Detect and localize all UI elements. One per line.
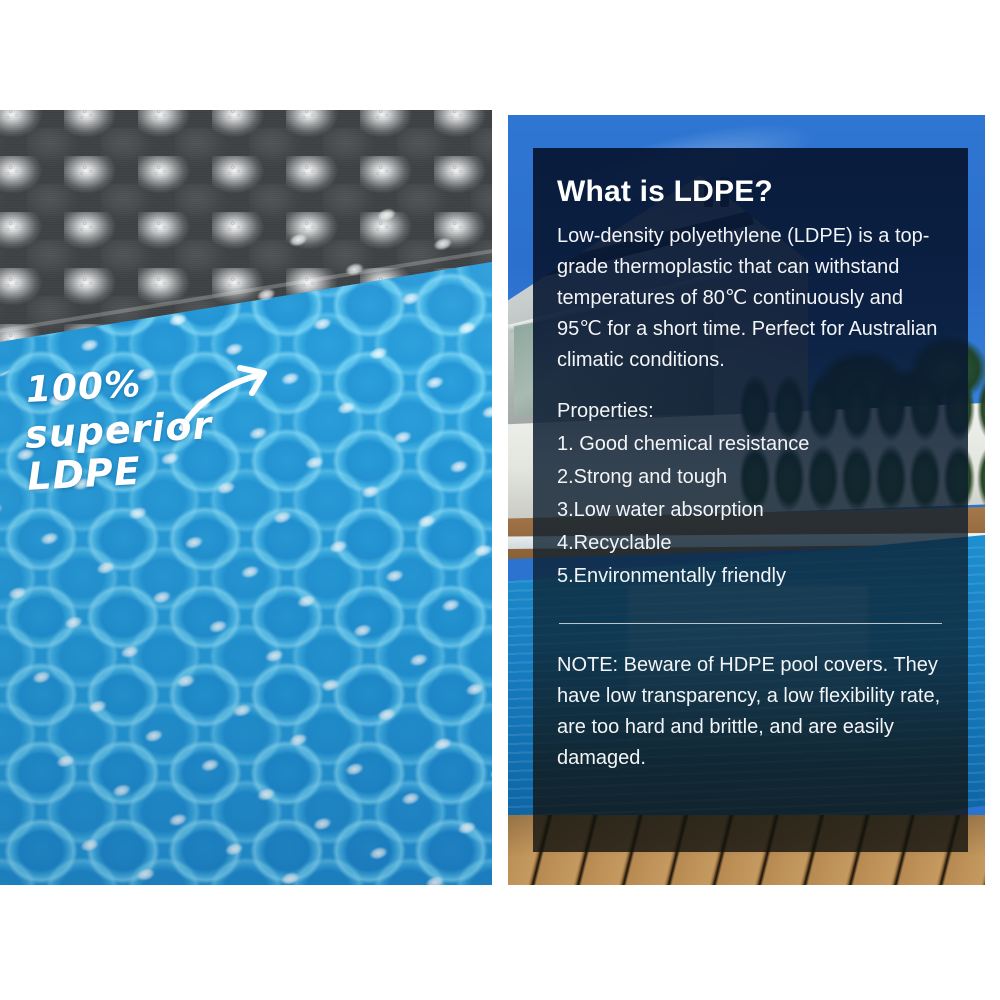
- properties-list: 1. Good chemical resistance 2.Strong and…: [557, 428, 944, 593]
- list-item: 2.Strong and tough: [557, 461, 944, 494]
- infographic-canvas: 100% superior LDPE What is LDPE? Low-den…: [0, 0, 1000, 1000]
- sheet-diagonal-edge: [0, 110, 492, 885]
- left-product-photo-panel: 100% superior LDPE: [0, 110, 492, 885]
- ldpe-info-card: What is LDPE? Low-density polyethylene (…: [533, 148, 968, 852]
- list-item: 4.Recyclable: [557, 527, 944, 560]
- list-item: 5.Environmentally friendly: [557, 560, 944, 593]
- card-paragraph: Low-density polyethylene (LDPE) is a top…: [557, 221, 944, 376]
- list-item: 1. Good chemical resistance: [557, 428, 944, 461]
- list-item: 3.Low water absorption: [557, 494, 944, 527]
- right-info-panel: What is LDPE? Low-density polyethylene (…: [508, 115, 985, 885]
- note-paragraph: NOTE: Beware of HDPE pool covers. They h…: [557, 650, 944, 774]
- card-title: What is LDPE?: [557, 173, 944, 211]
- card-divider: [559, 623, 942, 624]
- properties-label: Properties:: [557, 396, 944, 426]
